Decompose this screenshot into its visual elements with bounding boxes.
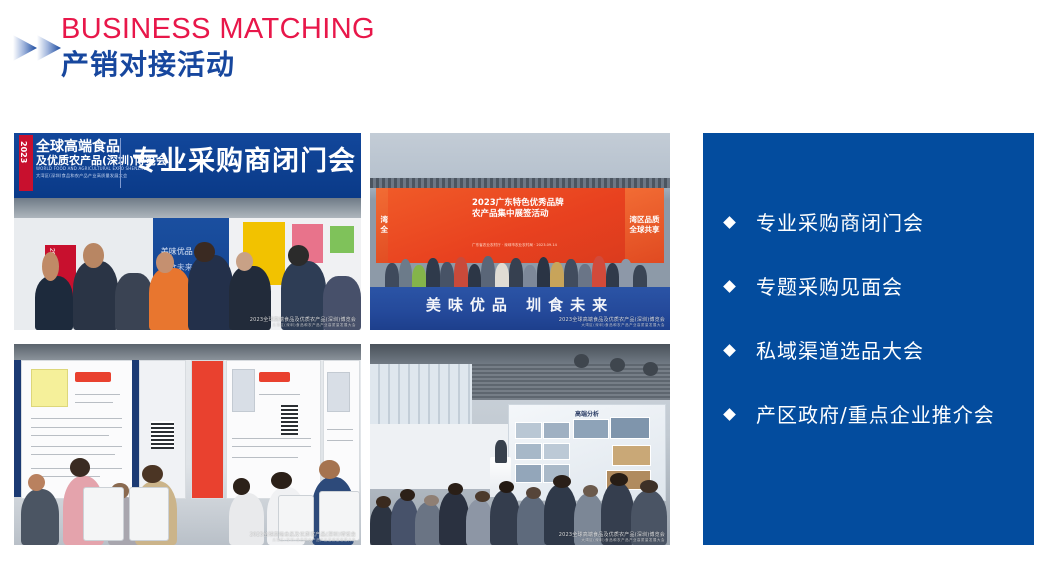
activity-list: 专业采购商闭门会 专题采购见面会 私域渠道选品大会 产区政府/重点企业推介会 xyxy=(725,212,1026,468)
photo-closed-door-buyer-meeting[interactable]: 2023 全球高端食品 及优质农产品(深圳)博览会 WORLD FOOD AND… xyxy=(14,133,361,330)
photo-watermark: 2023全球高端食品及优质农产品(深圳)博览会 大湾区(深圳)食品和农产品产业高… xyxy=(250,532,356,543)
backdrop-right-text: 湾区品质全球共享 xyxy=(625,215,664,235)
booth-banner: 2023 全球高端食品 及优质农产品(深圳)博览会 WORLD FOOD AND… xyxy=(14,133,361,198)
list-item[interactable]: 专题采购见面会 xyxy=(725,276,1026,297)
photo-grid: 2023 全球高端食品 及优质农产品(深圳)博览会 WORLD FOOD AND… xyxy=(14,133,670,545)
photo-seminar-presentation[interactable]: 高端分析 xyxy=(370,344,670,545)
business-matching-activity-list-panel: 专业采购商闭门会 专题采购见面会 私域渠道选品大会 产区政府/重点企业推介会 xyxy=(703,133,1034,545)
photo-matching-tables[interactable]: 2023全球高端食品及优质农产品(深圳)博览会 大湾区(深圳)食品和农产品产业高… xyxy=(14,344,361,545)
diamond-bullet-icon xyxy=(723,408,736,421)
banner-en-line2: 大湾区(深圳)食品和农产品产业高质量发展大会 xyxy=(36,173,127,179)
hall-ceiling xyxy=(14,344,361,360)
list-item[interactable]: 私域渠道选品大会 xyxy=(725,340,1026,361)
banner-divider xyxy=(120,138,121,188)
list-item[interactable]: 产区政府/重点企业推介会 xyxy=(725,404,1026,425)
screen-thumbnail xyxy=(515,422,542,439)
list-item-label: 专业采购商闭门会 xyxy=(756,212,924,234)
list-item-label: 私域渠道选品大会 xyxy=(756,340,924,362)
booth-ceiling xyxy=(14,198,361,218)
list-item-label: 产区政府/重点企业推介会 xyxy=(756,404,995,426)
ceiling-beam xyxy=(370,344,670,364)
screen-thumbnail xyxy=(610,417,649,440)
backdrop-center-title: 2023广东特色优秀品牌农产品集中展签活动 xyxy=(472,198,564,220)
list-item[interactable]: 专业采购商闭门会 xyxy=(725,212,1026,233)
banner-year-badge: 2023 xyxy=(19,135,33,191)
diamond-bullet-icon xyxy=(723,216,736,229)
board-logo-box xyxy=(31,369,69,407)
photo-watermark: 2023全球高端食品及优质农产品(深圳)博览会 大湾区(深圳)食品和农产品产业高… xyxy=(250,317,356,328)
screen-thumbnail xyxy=(543,422,570,439)
chair xyxy=(129,487,169,541)
banner-year-text: 2023 xyxy=(19,135,28,163)
photo-watermark: 2023全球高端食品及优质农产品(深圳)博览会 大湾区(深圳)食品和农产品产业高… xyxy=(559,532,665,543)
stage-truss xyxy=(370,178,670,188)
list-item-label: 专题采购见面会 xyxy=(756,276,903,298)
portrait-photo xyxy=(232,369,255,412)
double-chevron-right-icon xyxy=(12,32,64,64)
screen-thumbnail xyxy=(573,419,609,440)
page-title-en: BUSINESS MATCHING xyxy=(61,12,375,46)
board-title-chip xyxy=(75,372,111,382)
portrait-photo xyxy=(327,372,350,412)
chair xyxy=(83,487,123,541)
page-title-cn: 产销对接活动 xyxy=(61,48,375,82)
page-header: BUSINESS MATCHING 产销对接活动 xyxy=(0,0,1048,110)
photo-group-stage[interactable]: 湾区品质全球共享 湾区品质全球共享 2023广东特色优秀品牌农产品集中展签活动 … xyxy=(370,133,670,330)
qr-code xyxy=(151,421,174,448)
qr-code xyxy=(281,405,298,435)
diamond-bullet-icon xyxy=(723,344,736,357)
header-text-block: BUSINESS MATCHING 产销对接活动 xyxy=(61,12,375,82)
diamond-bullet-icon xyxy=(723,280,736,293)
photo-watermark: 2023全球高端食品及优质农产品(深圳)博览会 大湾区(深圳)食品和农产品产业高… xyxy=(559,317,665,328)
board-title-chip xyxy=(259,372,291,382)
duct-vent xyxy=(574,354,589,368)
stage-slogan: 美味优品 圳食未来 xyxy=(370,294,670,315)
banner-main-title: 专业采购商闭门会 xyxy=(132,139,356,178)
